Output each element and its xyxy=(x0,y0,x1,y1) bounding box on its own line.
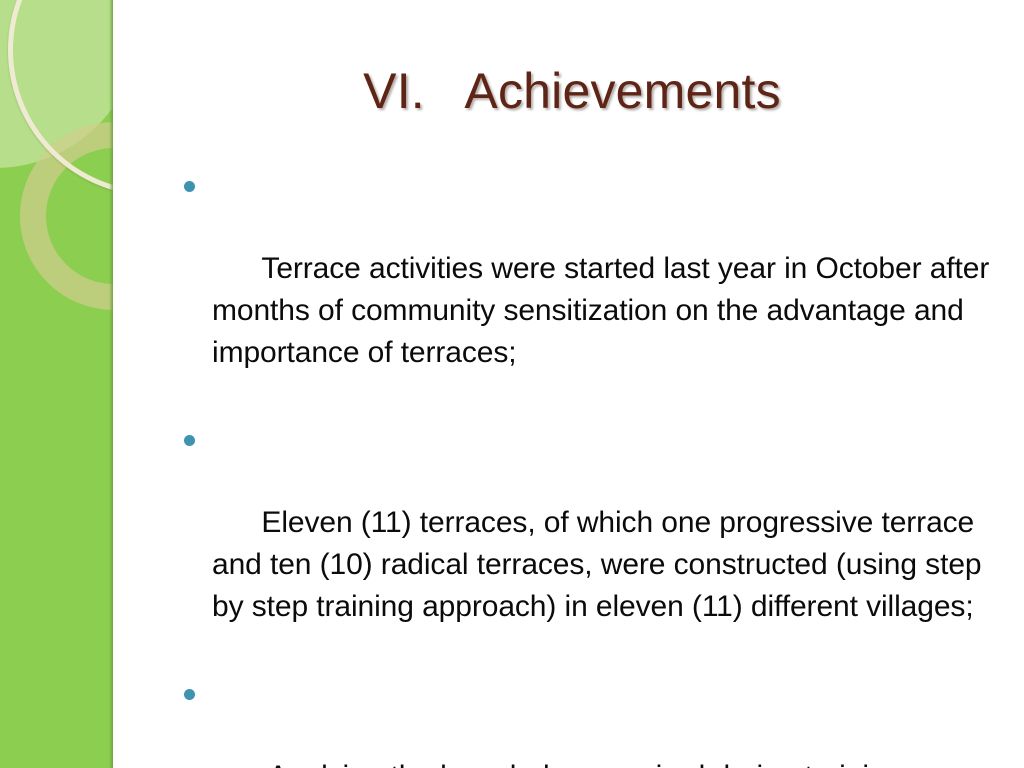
list-item-text: Applying the knowledge acquired during t… xyxy=(212,760,998,768)
bullet-dot-icon xyxy=(184,181,195,192)
slide-title: VI. Achievements xyxy=(130,62,1014,120)
slide-body-list: Terrace activities were started last yea… xyxy=(172,164,1008,768)
bullet-dot-icon xyxy=(184,435,195,446)
list-item: Applying the knowledge acquired during t… xyxy=(172,672,1008,768)
list-item-text: Eleven (11) terraces, of which one progr… xyxy=(212,506,990,623)
list-item: Eleven (11) terraces, of which one progr… xyxy=(172,418,1008,670)
bullet-dot-icon xyxy=(184,689,195,700)
list-item-text: Terrace activities were started last yea… xyxy=(212,252,998,369)
sidebar-edge-divider xyxy=(109,0,113,768)
presentation-slide: VI. Achievements Terrace activities were… xyxy=(0,0,1024,768)
list-item: Terrace activities were started last yea… xyxy=(172,164,1008,416)
decorative-sidebar xyxy=(0,0,113,768)
